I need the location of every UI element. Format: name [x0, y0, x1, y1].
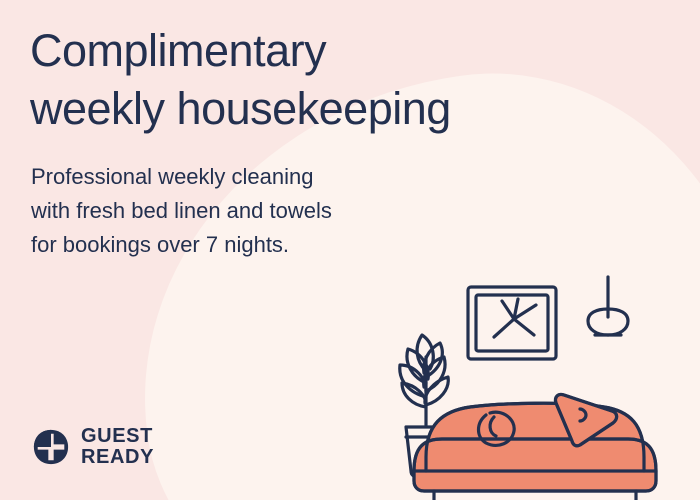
guestready-logo-icon [32, 428, 70, 466]
brand-logo: GUEST READY [32, 426, 154, 468]
subheadline-line-1: Professional weekly cleaning [31, 160, 501, 194]
framed-picture-icon [468, 287, 556, 359]
headline-line-1: Complimentary [30, 22, 630, 80]
subheadline-line-2: with fresh bed linen and towels [31, 194, 501, 228]
sofa-icon [414, 403, 656, 500]
brand-name: GUEST READY [81, 426, 154, 468]
headline-line-2: weekly housekeeping [30, 80, 630, 138]
subheadline: Professional weekly cleaning with fresh … [31, 160, 501, 262]
living-room-illustration [390, 265, 690, 500]
page-title: Complimentary weekly housekeeping [30, 22, 630, 137]
promo-card: Complimentary weekly housekeeping Profes… [0, 0, 700, 500]
floor-lamp-icon [588, 277, 628, 335]
subheadline-line-3: for bookings over 7 nights. [31, 228, 501, 262]
brand-name-line-2: READY [81, 447, 154, 468]
brand-name-line-1: GUEST [81, 426, 154, 447]
